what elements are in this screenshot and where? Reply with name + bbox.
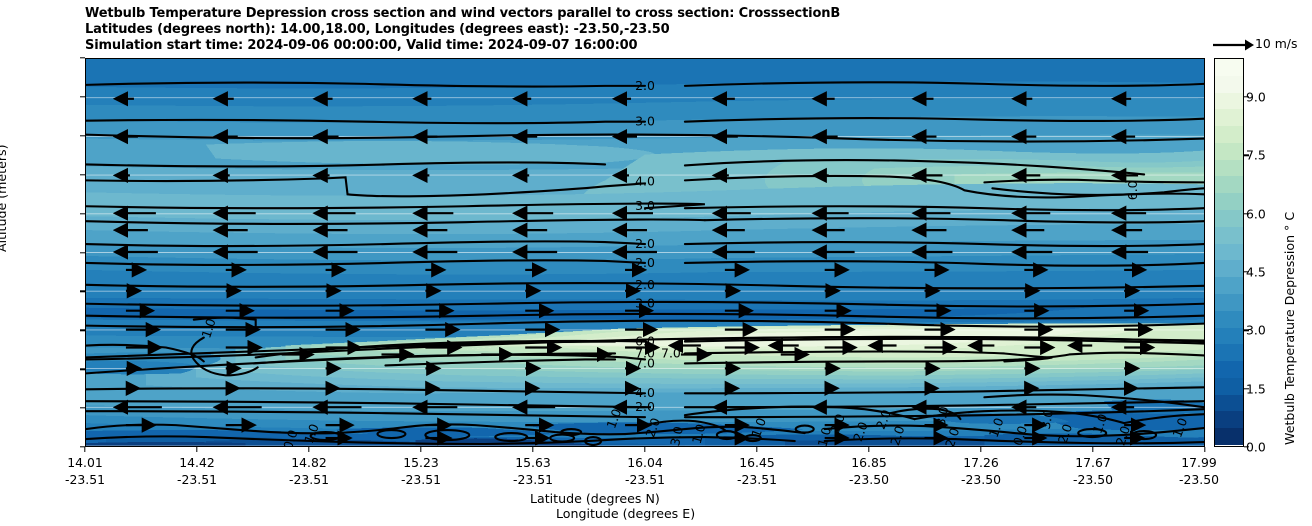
colorbar-segment: [1215, 378, 1243, 395]
x-tick-label: 14.01 -23.51: [65, 455, 105, 487]
x-tick-label: 17.99 -23.50: [1179, 455, 1219, 487]
x-tick-label: 14.82 -23.51: [289, 455, 329, 487]
x-tick-lon: -23.50: [1073, 472, 1113, 487]
x-tick-mark: [1204, 447, 1205, 452]
x-tick-lat: 16.04: [627, 455, 662, 470]
x-tick-lon: -23.50: [1179, 472, 1219, 487]
colorbar-tick-label: 9.0: [1246, 89, 1266, 104]
x-tick-mark: [1092, 447, 1093, 452]
colorbar-tick-label: 0.0: [1246, 440, 1266, 455]
x-tick-label: 16.45 -23.51: [737, 455, 777, 487]
colorbar-segment: [1215, 109, 1243, 126]
colorbar-tick-label: 1.5: [1246, 381, 1266, 396]
x-tick-label: 15.63 -23.51: [513, 455, 553, 487]
colorbar-tick-label: 4.5: [1246, 264, 1266, 279]
x-tick-lon: -23.51: [625, 472, 665, 487]
x-tick-label: 17.67 -23.50: [1073, 455, 1113, 487]
x-tick-lat: 16.45: [739, 455, 774, 470]
x-tick-lat: 14.82: [291, 455, 326, 470]
x-tick-lon: -23.51: [401, 472, 441, 487]
x-tick-lon: -23.51: [737, 472, 777, 487]
y-axis-label: Altitude (meters): [0, 145, 9, 252]
x-axis-label-latitude: Latitude (degrees N): [530, 491, 660, 506]
title-line-2: Latitudes (degrees north): 14.00,18.00, …: [85, 22, 1185, 38]
x-tick-mark: [532, 447, 533, 452]
x-tick-lon: -23.50: [849, 472, 889, 487]
x-tick-label: 14.42 -23.51: [177, 455, 217, 487]
y-tick-mark: [80, 252, 85, 253]
x-tick-mark: [980, 447, 981, 452]
x-tick-mark: [756, 447, 757, 452]
colorbar[interactable]: [1214, 58, 1244, 447]
y-tick-mark: [80, 213, 85, 214]
colorbar-segment: [1215, 277, 1243, 294]
x-tick-mark: [644, 447, 645, 452]
y-tick-mark: [80, 135, 85, 136]
y-tick-mark: [80, 57, 85, 58]
x-tick-label: 16.85 -23.50: [849, 455, 889, 487]
x-tick-mark: [84, 447, 85, 452]
wind-vector-layer: [86, 59, 1204, 446]
y-tick-mark: [80, 291, 85, 292]
x-tick-label: 15.23 -23.51: [401, 455, 441, 487]
colorbar-segment: [1215, 176, 1243, 193]
x-tick-label: 17.26 -23.50: [961, 455, 1001, 487]
colorbar-segment: [1215, 76, 1243, 93]
colorbar-tick-label: 3.0: [1246, 323, 1266, 338]
x-tick-lat: 15.23: [403, 455, 438, 470]
colorbar-segment: [1215, 193, 1243, 210]
colorbar-segment: [1215, 311, 1243, 328]
colorbar-segment: [1215, 210, 1243, 227]
colorbar-segment: [1215, 428, 1243, 445]
x-tick-mark: [868, 447, 869, 452]
colorbar-segment: [1215, 328, 1243, 345]
colorbar-segment: [1215, 411, 1243, 428]
x-tick-lat: 16.85: [851, 455, 886, 470]
wind-scale-label: 10 m/s: [1255, 36, 1297, 51]
x-tick-lat: 17.67: [1075, 455, 1110, 470]
y-tick-mark: [80, 368, 85, 369]
x-tick-lat: 17.99: [1181, 455, 1216, 470]
y-tick-mark: [80, 174, 85, 175]
colorbar-segment: [1215, 244, 1243, 261]
x-tick-lon: -23.51: [177, 472, 217, 487]
x-tick-mark: [420, 447, 421, 452]
x-tick-lon: -23.51: [289, 472, 329, 487]
cross-section-plot[interactable]: 2.0 3.0 4.0 3.0 2.0 2.0 2.0 3.0 6.0 7.0 …: [85, 58, 1205, 447]
colorbar-tick-label: 7.5: [1246, 148, 1266, 163]
colorbar-segment: [1215, 227, 1243, 244]
y-tick-mark: [80, 407, 85, 408]
x-tick-lon: -23.51: [513, 472, 553, 487]
colorbar-tick-label: 6.0: [1246, 206, 1266, 221]
x-tick-lon: -23.51: [65, 472, 105, 487]
y-tick-mark: [80, 96, 85, 97]
colorbar-segment: [1215, 361, 1243, 378]
chart-page: Wetbulb Temperature Depression cross sec…: [0, 0, 1312, 526]
x-tick-lon: -23.50: [961, 472, 1001, 487]
colorbar-segment: [1215, 344, 1243, 361]
y-tick-mark: [80, 330, 85, 331]
x-tick-lat: 14.01: [67, 455, 102, 470]
colorbar-segment: [1215, 160, 1243, 177]
x-axis-label-longitude: Longitude (degrees E): [556, 506, 695, 521]
arrow-right-icon: [1211, 37, 1255, 53]
title-line-3: Simulation start time: 2024-09-06 00:00:…: [85, 38, 1185, 54]
colorbar-segment: [1215, 395, 1243, 412]
colorbar-segment: [1215, 126, 1243, 143]
x-tick-lat: 17.26: [963, 455, 998, 470]
x-tick-mark: [196, 447, 197, 452]
colorbar-segment: [1215, 260, 1243, 277]
colorbar-segment: [1215, 143, 1243, 160]
x-tick-mark: [308, 447, 309, 452]
colorbar-segment: [1215, 93, 1243, 110]
x-tick-lat: 14.42: [179, 455, 214, 470]
colorbar-segment: [1215, 59, 1243, 76]
colorbar-label: Wetbulb Temperature Depression ° C: [1282, 212, 1297, 445]
title-line-1: Wetbulb Temperature Depression cross sec…: [85, 6, 1185, 22]
colorbar-segment: [1215, 294, 1243, 311]
x-tick-lat: 15.63: [515, 455, 550, 470]
x-tick-label: 16.04 -23.51: [625, 455, 665, 487]
chart-title-block: Wetbulb Temperature Depression cross sec…: [85, 6, 1185, 55]
wind-scale-key: 10 m/s: [1211, 36, 1312, 56]
